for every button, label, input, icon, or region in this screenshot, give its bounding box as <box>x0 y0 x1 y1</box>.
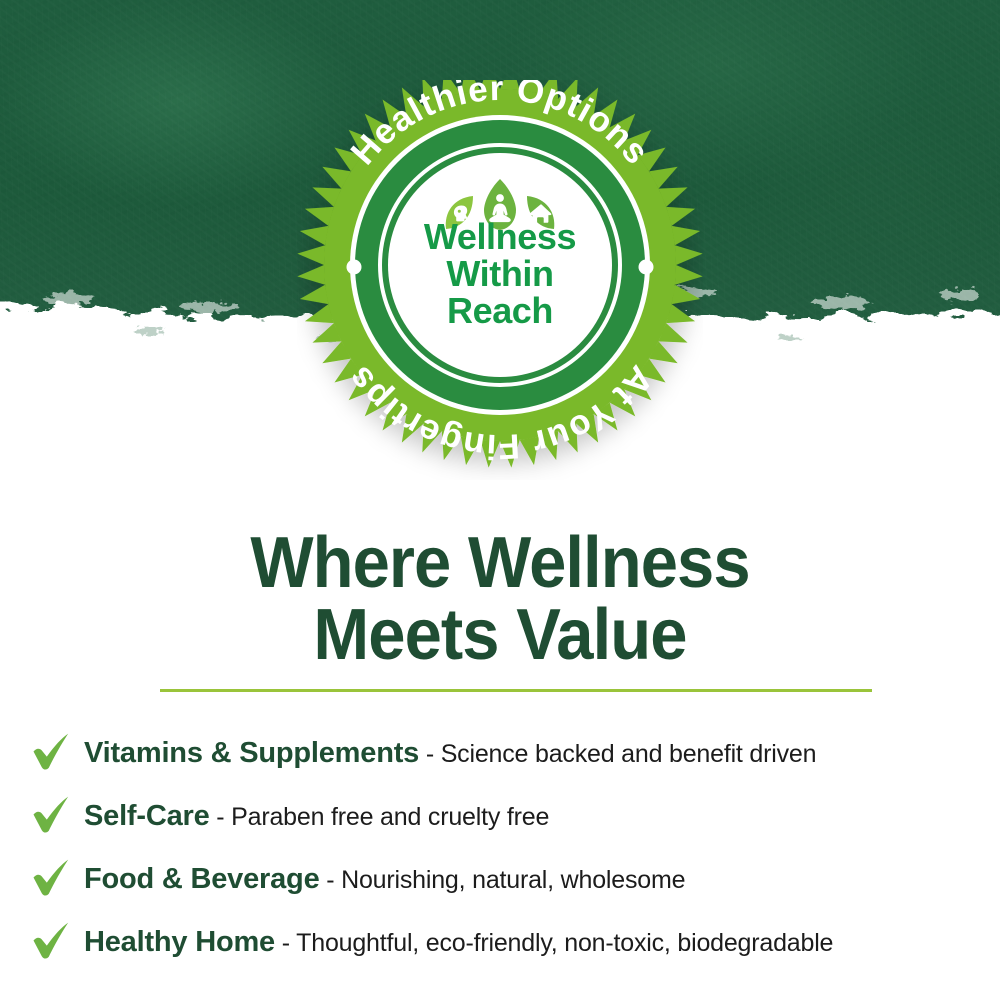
badge-dot-right <box>639 260 654 275</box>
benefits-list: Vitamins & Supplements - Science backed … <box>30 722 990 974</box>
list-item: Vitamins & Supplements - Science backed … <box>30 722 990 785</box>
wellness-badge: Healthier Options At Your Fingertips <box>297 80 703 480</box>
list-item-label: Healthy Home <box>84 926 275 958</box>
list-item-text: Vitamins & Supplements - Science backed … <box>84 737 816 770</box>
page-title: Where Wellness Meets Value <box>35 527 965 671</box>
list-item-text: Food & Beverage - Nourishing, natural, w… <box>84 863 685 896</box>
promo-graphic: Healthier Options At Your Fingertips <box>0 0 1000 1000</box>
list-item: Self-Care - Paraben free and cruelty fre… <box>30 785 990 848</box>
list-item-desc: - Thoughtful, eco-friendly, non-toxic, b… <box>275 929 833 957</box>
list-item-desc: - Science backed and benefit driven <box>419 740 816 768</box>
check-icon <box>30 920 72 960</box>
list-item-label: Food & Beverage <box>84 863 320 895</box>
check-icon <box>30 731 72 771</box>
badge-dot-left <box>347 260 362 275</box>
page-title-line-1: Where Wellness <box>35 527 965 599</box>
list-item-text: Self-Care - Paraben free and cruelty fre… <box>84 800 549 833</box>
list-item-text: Healthy Home - Thoughtful, eco-friendly,… <box>84 926 833 959</box>
list-item-desc: - Nourishing, natural, wholesome <box>320 866 686 894</box>
list-item-label: Self-Care <box>84 800 210 832</box>
list-item-label: Vitamins & Supplements <box>84 737 419 769</box>
check-icon <box>30 857 72 897</box>
title-divider <box>160 689 872 692</box>
list-item-desc: - Paraben free and cruelty free <box>210 803 550 831</box>
check-icon <box>30 794 72 834</box>
page-title-line-2: Meets Value <box>35 599 965 671</box>
list-item: Food & Beverage - Nourishing, natural, w… <box>30 848 990 911</box>
list-item: Healthy Home - Thoughtful, eco-friendly,… <box>30 911 990 974</box>
